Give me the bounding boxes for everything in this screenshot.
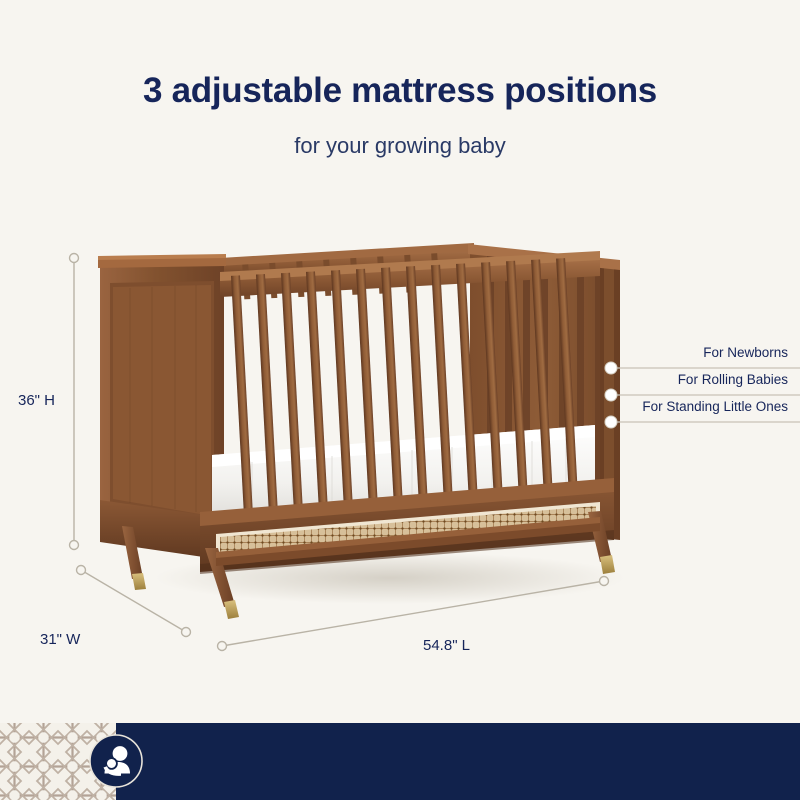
length-dimension-line: [222, 581, 604, 646]
crib-back-rail: [220, 240, 474, 305]
crib-front-slats: [231, 251, 580, 540]
crib-right-end-panel: [468, 244, 620, 540]
crib-left-end-panel: [98, 254, 226, 540]
width-endpoint-end: [182, 628, 191, 637]
height-endpoint-top: [70, 254, 79, 263]
crib-mattress: [212, 425, 595, 522]
mother-and-baby-icon: [88, 733, 144, 789]
width-dimension-line: [81, 570, 186, 632]
mattress-position-label-rolling: For Rolling Babies: [678, 372, 788, 387]
position-marker-2: [605, 389, 617, 401]
page-title: 3 adjustable mattress positions: [0, 72, 800, 111]
page-subtitle: for your growing baby: [0, 133, 800, 159]
mattress-position-label-standing: For Standing Little Ones: [642, 399, 788, 414]
position-marker-3: [605, 416, 617, 428]
length-endpoint-start: [218, 642, 227, 651]
crib-legs: [122, 511, 615, 619]
position-marker-1: [605, 362, 617, 374]
height-dimension-label: 36" H: [18, 392, 55, 409]
mattress-position-label-newborns: For Newborns: [703, 345, 788, 360]
crib-front-top-rail: [220, 251, 600, 297]
length-dimension-label: 54.8" L: [423, 637, 470, 654]
width-endpoint-start: [77, 566, 86, 575]
width-dimension-label: 31" W: [40, 631, 80, 648]
infographic-canvas: 3 adjustable mattress positions for your…: [0, 0, 800, 800]
length-endpoint-end: [600, 577, 609, 586]
height-endpoint-bottom: [70, 541, 79, 550]
footer-navy-band: [116, 723, 800, 800]
cane-inlay-panel: [216, 502, 600, 560]
crib-base: [100, 478, 614, 574]
